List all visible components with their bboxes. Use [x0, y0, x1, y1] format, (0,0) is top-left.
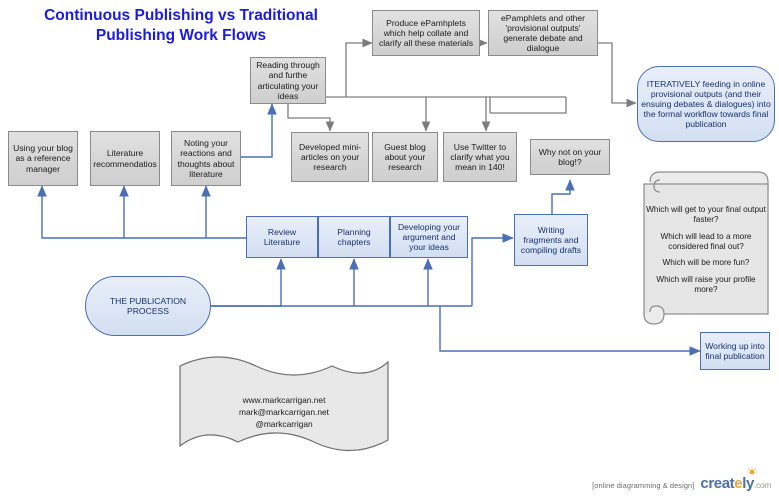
node-literature-recommendations[interactable]: Literature recommendatios [90, 131, 160, 186]
scroll-question: Which will get to your final output fast… [644, 205, 768, 225]
contact-document: www.markcarrigan.net mark@markcarrigan.n… [178, 356, 390, 456]
contact-email: mark@markcarrigan.net [178, 406, 390, 418]
node-review-literature[interactable]: Review Literature [246, 216, 318, 258]
contact-info: www.markcarrigan.net mark@markcarrigan.n… [178, 394, 390, 431]
scroll-questions: Which will get to your final output fast… [644, 186, 768, 314]
scroll-question: Which will lead to a more considered fin… [644, 232, 768, 252]
contact-twitter: @markcarrigan [178, 418, 390, 430]
node-writing-fragments[interactable]: Writing fragments and compiling drafts [514, 214, 588, 266]
node-publication-process[interactable]: THE PUBLICATION PROCESS [85, 276, 211, 336]
watermark-tagline: [online diagramming & design] [592, 481, 694, 492]
node-why-not-blog[interactable]: Why not on your blog!? [530, 139, 610, 175]
lightbulb-icon [747, 467, 757, 477]
node-noting-reactions[interactable]: Noting your reactions and thoughts about… [171, 131, 241, 186]
node-produce-epamphlets[interactable]: Produce ePamhplets which help collate an… [372, 10, 480, 56]
creately-watermark: [online diagramming & design] creately.c… [592, 475, 771, 492]
creately-logo[interactable]: creately.com [700, 475, 771, 492]
creately-logo-part1: creat [700, 475, 734, 492]
diagram-canvas: Continuous Publishing vs Traditional Pub… [0, 0, 779, 498]
node-epamphlets-debate[interactable]: ePamphlets and other 'provisional output… [488, 10, 598, 56]
node-guest-blog[interactable]: Guest blog about your research [372, 132, 438, 182]
page-title: Continuous Publishing vs Traditional Pub… [16, 6, 346, 46]
node-working-up-final-publication[interactable]: Working up into final publication [700, 332, 770, 370]
creately-logo-suffix: .com [754, 480, 771, 490]
node-mini-articles[interactable]: Developed mini-articles on your research [291, 132, 369, 182]
scroll-question: Which will be more fun? [644, 258, 768, 268]
node-use-twitter[interactable]: Use Twitter to clarify what you mean in … [443, 132, 517, 182]
node-developing-argument[interactable]: Developing your argument and your ideas [390, 216, 468, 258]
creately-logo-part3: ly [742, 475, 754, 492]
contact-website: www.markcarrigan.net [178, 394, 390, 406]
node-iteratively-feeding[interactable]: ITERATIVELY feeding in online provisiona… [637, 66, 775, 142]
scroll-note[interactable]: Which will get to your final output fast… [636, 168, 776, 326]
node-using-blog[interactable]: Using your blog as a reference manager [8, 131, 78, 186]
scroll-question: Which will raise your profile more? [644, 275, 768, 295]
node-reading-through[interactable]: Reading through and furthe articulating … [250, 57, 326, 104]
node-planning-chapters[interactable]: Planning chapters [318, 216, 390, 258]
